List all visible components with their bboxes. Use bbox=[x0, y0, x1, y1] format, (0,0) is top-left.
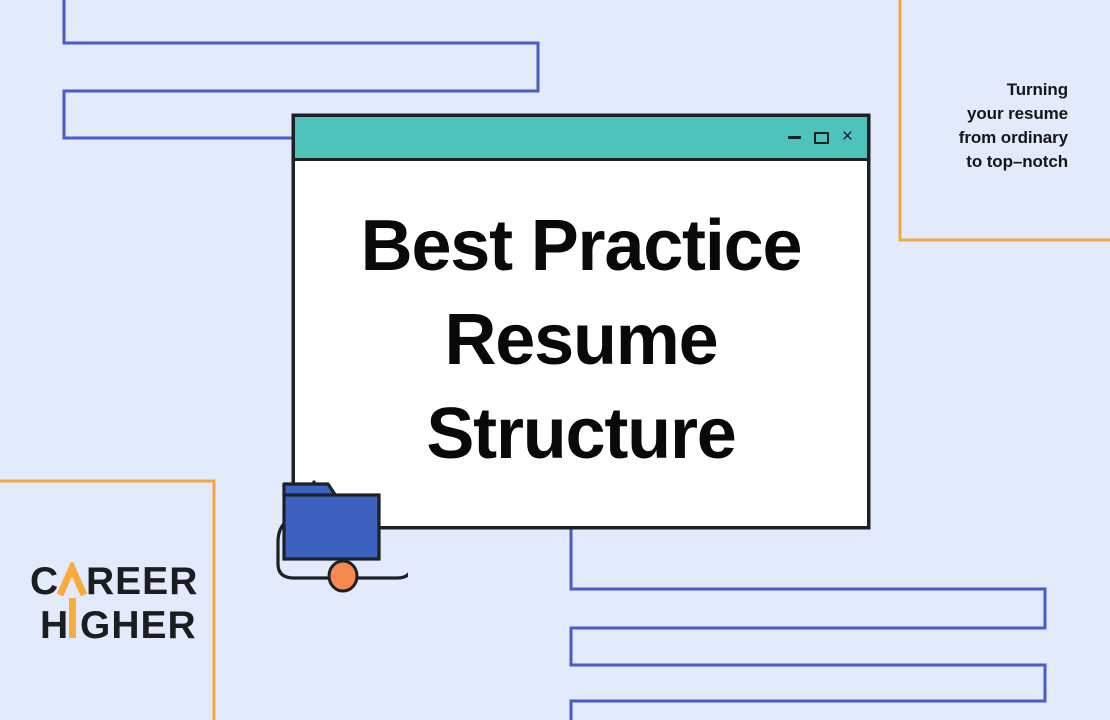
folder-body-shape bbox=[284, 495, 379, 559]
folder-graphic bbox=[262, 462, 408, 594]
tagline-text: Turning your resume from ordinary to top… bbox=[838, 78, 1068, 174]
logo-line2-gher: GHER bbox=[80, 604, 197, 644]
logo-line1-reer: REER bbox=[86, 562, 198, 603]
maximize-button[interactable] bbox=[814, 132, 829, 144]
logo-stem-i-icon bbox=[69, 598, 76, 638]
minimize-icon bbox=[788, 136, 801, 139]
logo-line2-h: H bbox=[40, 604, 69, 644]
slide-title: Best Practice Resume Structure bbox=[361, 199, 802, 481]
minimize-button[interactable] bbox=[788, 136, 801, 140]
serpentine-bottom-right-icon bbox=[571, 520, 1045, 720]
slide-canvas: Turning your resume from ordinary to top… bbox=[0, 0, 1110, 720]
window-titlebar[interactable]: × bbox=[295, 117, 867, 161]
maximize-icon bbox=[814, 132, 829, 144]
window-controls: × bbox=[788, 128, 853, 147]
careerhigher-logo[interactable]: C REER H GHER bbox=[30, 562, 210, 644]
logo-line1-c: C bbox=[30, 562, 59, 603]
logo-chevron-a-icon bbox=[60, 568, 84, 595]
folder-status-dot-icon bbox=[329, 561, 357, 591]
close-button[interactable]: × bbox=[842, 127, 853, 146]
